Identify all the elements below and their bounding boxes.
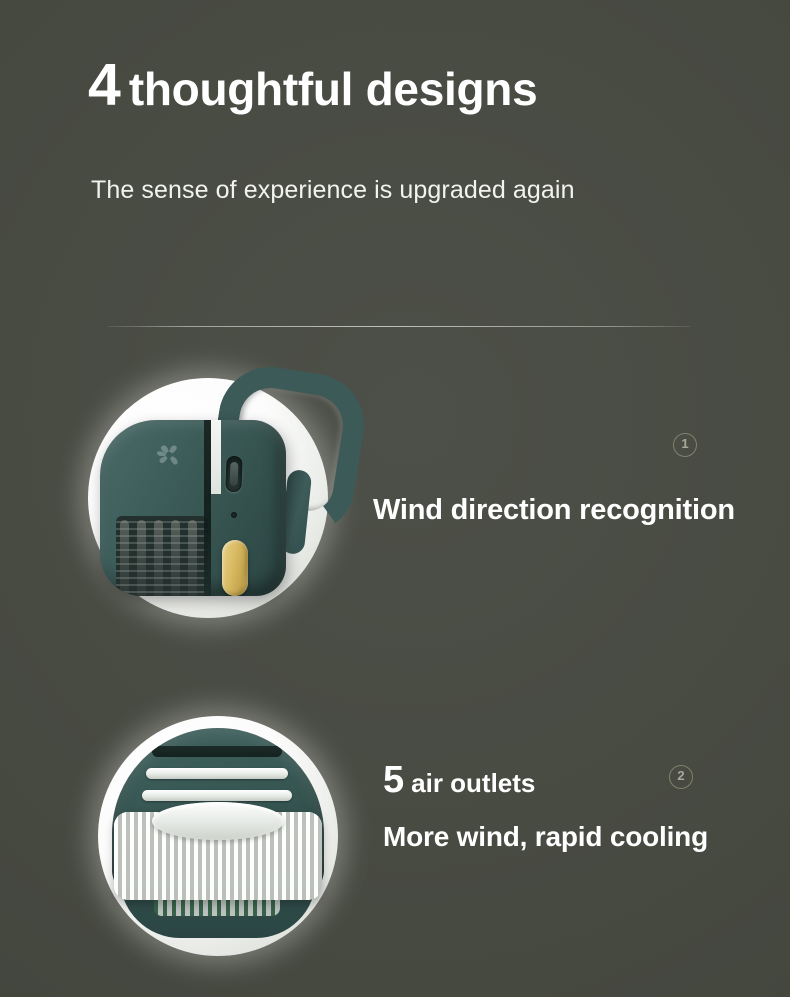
power-button xyxy=(222,540,248,596)
section-divider xyxy=(108,326,690,327)
page-title: 4thoughtful designs xyxy=(88,56,537,115)
fan-blade-logo-icon xyxy=(152,438,186,472)
led-indicator xyxy=(231,512,237,518)
fan-body xyxy=(100,420,286,596)
air-intake-grille xyxy=(116,516,208,596)
page-subtitle: The sense of experience is upgraded agai… xyxy=(91,176,575,205)
feature-1-caption: Wind direction recognition xyxy=(373,493,735,527)
headline-text: thoughtful designs xyxy=(129,63,538,115)
step-marker-2: 2 xyxy=(669,765,693,789)
step-marker-1: 1 xyxy=(673,433,697,457)
air-outlet-turbine-photo xyxy=(98,716,338,956)
air-outlet-slot xyxy=(152,746,282,757)
body-highlight-gap xyxy=(211,420,221,494)
turbine-hub xyxy=(152,802,284,840)
ear-hook-fan-photo xyxy=(88,378,328,618)
headline-number: 4 xyxy=(88,52,120,118)
feature-2-caption: 5air outlets More wind, rapid cooling xyxy=(383,758,708,853)
feature-2-count: 5 xyxy=(383,759,404,801)
usb-c-port xyxy=(225,456,242,493)
air-outlet-slot xyxy=(146,768,288,779)
air-outlet-slot xyxy=(142,790,292,801)
feature-1-headline: Wind direction recognition xyxy=(373,493,735,527)
feature-2-subline: More wind, rapid cooling xyxy=(383,820,708,853)
feature-2-count-line: 5air outlets xyxy=(383,758,708,803)
body-seam xyxy=(204,420,211,596)
feature-2-count-label: air outlets xyxy=(411,768,535,798)
product-feature-page: 4thoughtful designs The sense of experie… xyxy=(0,0,790,997)
